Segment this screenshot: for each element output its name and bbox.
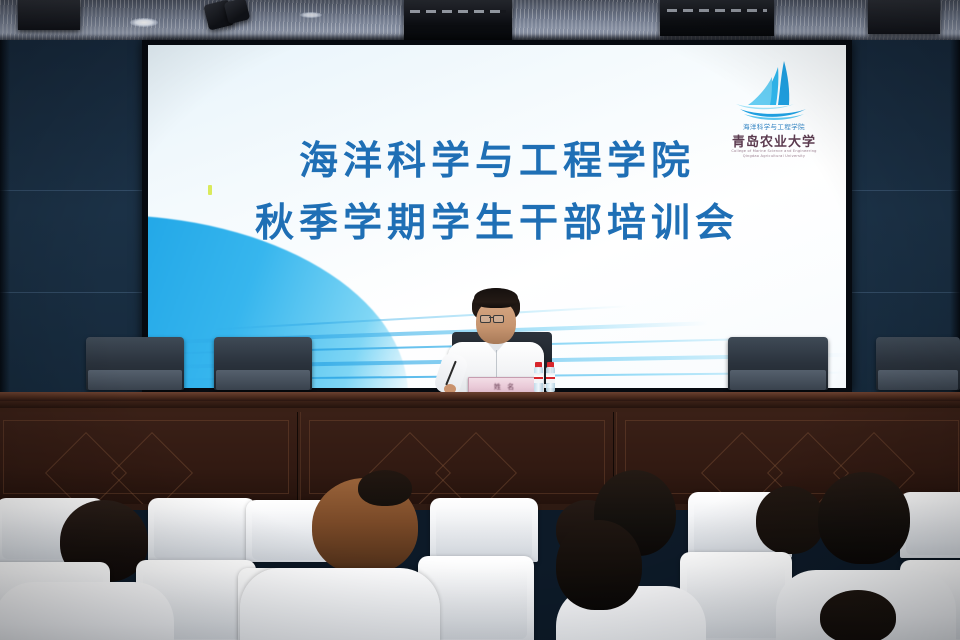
ceiling-speaker-box (660, 0, 774, 36)
nameplate-text: 姓 名 (469, 382, 541, 392)
attendee-shoulders (240, 568, 440, 640)
stage-chair (728, 337, 828, 390)
logo-university-name: 青岛农业大学 (726, 131, 822, 150)
water-bottle (546, 362, 555, 392)
chair-cover (430, 498, 538, 562)
speaker-hair-top (474, 288, 518, 308)
ceiling-projector-box (868, 0, 940, 34)
chair-seat (878, 370, 959, 390)
speaker-glasses (480, 315, 512, 323)
podium-panel (0, 412, 298, 504)
chair-cover (148, 498, 256, 562)
attendee-head (358, 470, 412, 506)
podium-rail (0, 401, 960, 408)
chair-seat (216, 370, 310, 390)
chair-seat (88, 370, 182, 390)
ceiling-projector-box (18, 0, 80, 30)
stage-chair (214, 337, 312, 390)
glasses-lens-right (493, 315, 504, 323)
attendee-shoulders (0, 582, 174, 640)
podium-top-edge (0, 392, 960, 401)
bottle-label (546, 373, 555, 383)
chair-seat (730, 370, 826, 390)
ceiling-speaker-box (404, 0, 512, 40)
university-logo: 海洋科学与工程学院 青岛农业大学 College of Marine Scien… (726, 59, 822, 167)
attendee-head (820, 590, 896, 640)
conference-hall-photo: 海洋科学与工程学院 秋季学期学生干部培训会 海洋科学与工程学院 青岛农业大学 C… (0, 0, 960, 640)
logo-english-line-2: Qingdao Agricultural University (726, 154, 822, 159)
wall-edge-left (0, 40, 10, 420)
speaker-vent (410, 10, 505, 13)
attendee-head (756, 486, 824, 554)
attendee-head (818, 472, 910, 564)
water-bottle (534, 362, 543, 392)
podium-desk (0, 392, 960, 510)
sailboat-wave-icon (734, 59, 814, 123)
screen-accent-dot (208, 185, 212, 195)
stage-chair (876, 337, 960, 390)
ceiling-downlight (300, 12, 322, 18)
logo-college-name: 海洋科学与工程学院 (726, 121, 822, 131)
ceiling-downlight (130, 18, 158, 27)
speaker-vent (667, 9, 767, 12)
attendee-head (556, 520, 642, 610)
bottle-label (534, 373, 543, 383)
stage-chair (86, 337, 184, 390)
